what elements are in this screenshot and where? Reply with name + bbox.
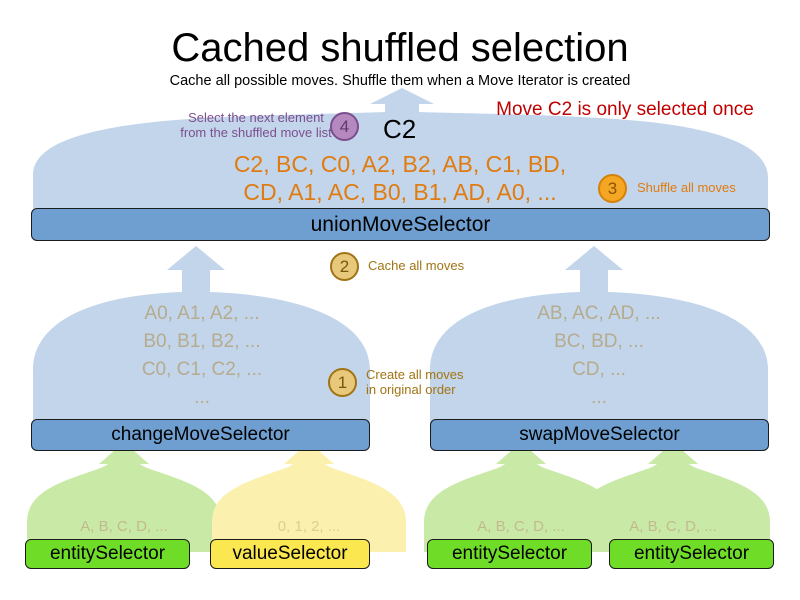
selected-move-output: C2 — [383, 114, 416, 145]
swap-move-line-2: BC, BD, ... — [487, 328, 711, 356]
union-move-selector-bar[interactable]: unionMoveSelector — [31, 208, 770, 241]
step-3-badge: 3 — [598, 174, 627, 203]
entity-selector-bar-3[interactable]: entitySelector — [609, 539, 774, 569]
diagram-canvas: Cached shuffled selection Cache all poss… — [0, 0, 800, 600]
union-move-line-1: C2, BC, C0, A2, B2, AB, C1, BD, — [140, 150, 660, 178]
union-move-selector-label: unionMoveSelector — [311, 213, 491, 237]
change-move-line-4: ... — [90, 384, 314, 412]
change-move-line-2: B0, B1, B2, ... — [90, 328, 314, 356]
step-4-badge: 4 — [330, 112, 359, 141]
swap-move-selector-label: swapMoveSelector — [519, 424, 680, 446]
leaf-values-4: A, B, C, D, ... — [576, 518, 770, 535]
warning-note: Move C2 is only selected once — [460, 99, 790, 121]
step-2-badge: 2 — [330, 252, 359, 281]
leaf-values-2: 0, 1, 2, ... — [212, 518, 406, 535]
swap-move-line-1: AB, AC, AD, ... — [487, 300, 711, 328]
entity-selector-bar-2[interactable]: entitySelector — [427, 539, 592, 569]
entity-selector-label-2: entitySelector — [452, 543, 567, 565]
union-move-line-2: CD, A1, AC, B0, B1, AD, A0, ... — [140, 178, 660, 206]
leaf-values-1: A, B, C, D, ... — [27, 518, 221, 535]
value-selector-label: valueSelector — [232, 543, 347, 565]
swap-move-selector-bar[interactable]: swapMoveSelector — [430, 419, 769, 451]
leaf-dome-shape-2 — [212, 442, 406, 552]
step-1-badge: 1 — [328, 368, 357, 397]
step-1-label-line-2: in original order — [366, 382, 486, 397]
entity-selector-label-3: entitySelector — [634, 543, 749, 565]
change-move-selector-label: changeMoveSelector — [111, 424, 290, 446]
step-4-label: Select the next element from the shuffle… — [176, 110, 336, 140]
change-move-line-1: A0, A1, A2, ... — [90, 300, 314, 328]
entity-selector-bar-1[interactable]: entitySelector — [25, 539, 190, 569]
change-move-selector-move-list: A0, A1, A2, ... B0, B1, B2, ... C0, C1, … — [90, 300, 314, 412]
page-subtitle: Cache all possible moves. Shuffle them w… — [0, 73, 800, 89]
swap-move-selector-move-list: AB, AC, AD, ... BC, BD, ... CD, ... ... — [487, 300, 711, 412]
page-title: Cached shuffled selection — [0, 26, 800, 71]
step-4-label-line-2: from the shuffled move list — [176, 125, 336, 140]
value-selector-bar[interactable]: valueSelector — [210, 539, 370, 569]
step-1-label-line-1: Create all moves — [366, 367, 486, 382]
entity-selector-label-1: entitySelector — [50, 543, 165, 565]
change-move-line-3: C0, C1, C2, ... — [90, 356, 314, 384]
step-2-label: Cache all moves — [368, 258, 464, 273]
step-4-label-line-1: Select the next element — [176, 110, 336, 125]
change-move-selector-bar[interactable]: changeMoveSelector — [31, 419, 370, 451]
step-3-label: Shuffle all moves — [637, 180, 736, 195]
swap-move-line-3: CD, ... — [487, 356, 711, 384]
swap-move-line-4: ... — [487, 384, 711, 412]
leaf-dome-shape-1 — [27, 442, 221, 552]
step-1-label: Create all moves in original order — [366, 367, 486, 397]
union-shuffled-move-list: C2, BC, C0, A2, B2, AB, C1, BD, CD, A1, … — [140, 150, 660, 206]
leaf-dome-shape-4 — [576, 442, 770, 552]
